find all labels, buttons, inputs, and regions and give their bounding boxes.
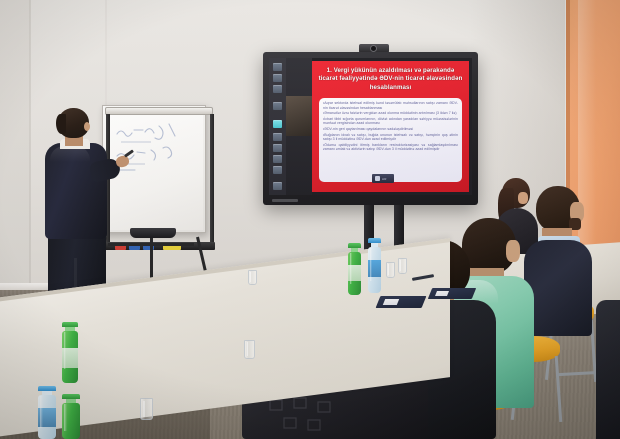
attendee-edge-right bbox=[596, 300, 620, 439]
slide-logo-mark-icon bbox=[375, 176, 380, 181]
green-soda-bottle-2[interactable] bbox=[62, 322, 78, 384]
bottle-shine bbox=[40, 396, 43, 428]
drinking-glass-4[interactable] bbox=[140, 398, 153, 420]
slide-bullet: •Əmanətlər üzrə faizlərin vergidən azad … bbox=[323, 111, 458, 116]
green-soda-bottle[interactable] bbox=[348, 243, 361, 295]
handout-page bbox=[383, 299, 399, 305]
folder-icon[interactable] bbox=[273, 102, 282, 110]
camera-lens-icon bbox=[371, 46, 376, 51]
slide-body: •Aqrar sektorda istehsal edilmiş kənd tə… bbox=[319, 98, 462, 182]
drinking-glass-2[interactable] bbox=[386, 262, 395, 278]
grid-icon[interactable] bbox=[273, 144, 282, 152]
slide-bullet: •Ödəmə qabiliyyətini itirmiş bankların r… bbox=[323, 143, 458, 152]
presenter-ear bbox=[84, 122, 90, 131]
bottle-shine bbox=[370, 248, 372, 281]
selected-slide-icon[interactable] bbox=[273, 120, 282, 128]
left-wall-panel bbox=[0, 0, 30, 300]
monitor-icon[interactable] bbox=[273, 182, 282, 190]
bottle-shine bbox=[350, 253, 352, 284]
slide-bullet: •ƏDV-nin geri qaytarılması qaydalarının … bbox=[323, 127, 458, 132]
blue-cap-water-bottle[interactable] bbox=[368, 238, 381, 293]
wall-seam bbox=[29, 0, 31, 300]
tv-screen[interactable]: 1. Vergi yükünün azaldılması və pərakənd… bbox=[269, 58, 472, 195]
seminar-photo: 1. Vergi yükünün azaldılması və pərakənd… bbox=[0, 0, 620, 439]
flipchart-frame-right bbox=[210, 114, 214, 246]
slide-bullet: •Aqrar sektorda istehsal edilmiş kənd tə… bbox=[323, 101, 458, 110]
presentation-sidebar[interactable] bbox=[269, 58, 286, 195]
wall-seam-secondary bbox=[105, 0, 107, 110]
bottle-shine bbox=[64, 404, 67, 431]
slide-thumbnail-icon-3[interactable] bbox=[273, 85, 282, 93]
slide-bullet: •Buğdanın idxalı və satışı, buğda ununun… bbox=[323, 133, 458, 142]
tv-brand-logo bbox=[272, 199, 298, 202]
layout-icon[interactable] bbox=[273, 166, 282, 174]
drinking-glass-5[interactable] bbox=[248, 270, 257, 285]
attendee-face bbox=[506, 240, 520, 262]
search-icon[interactable] bbox=[273, 133, 282, 141]
handout-page-2 bbox=[435, 291, 449, 296]
slide-thumbnail-icon[interactable] bbox=[273, 63, 282, 71]
presentation-thumbnail-photo bbox=[286, 96, 312, 136]
drinking-glass-3[interactable] bbox=[398, 258, 407, 274]
slide: 1. Vergi yükünün azaldılması və pərakənd… bbox=[312, 61, 469, 192]
easel-head bbox=[130, 228, 176, 238]
wall-tv-display[interactable]: 1. Vergi yükünün azaldılması və pərakənd… bbox=[263, 52, 478, 205]
presenter bbox=[40, 108, 122, 308]
attendee-torso bbox=[596, 300, 620, 439]
presenter-hair bbox=[56, 114, 66, 134]
drinking-glass[interactable] bbox=[244, 340, 255, 359]
slide-title: 1. Vergi yükünün azaldılması və pərakənd… bbox=[318, 67, 463, 92]
slide-thumbnail-icon-2[interactable] bbox=[273, 74, 282, 82]
blue-cap-water-bottle-2[interactable] bbox=[38, 386, 56, 439]
bottle-shine bbox=[64, 332, 67, 369]
green-soda-bottle-3[interactable] bbox=[62, 394, 80, 439]
slide-bullet: •İcbari tibbi sığorta qurumlarının, dövl… bbox=[323, 117, 458, 126]
share-icon[interactable] bbox=[273, 155, 282, 163]
presentation-app[interactable]: 1. Vergi yükünün azaldılması və pərakənd… bbox=[269, 58, 472, 195]
slide-logo-text: AR bbox=[382, 177, 387, 181]
